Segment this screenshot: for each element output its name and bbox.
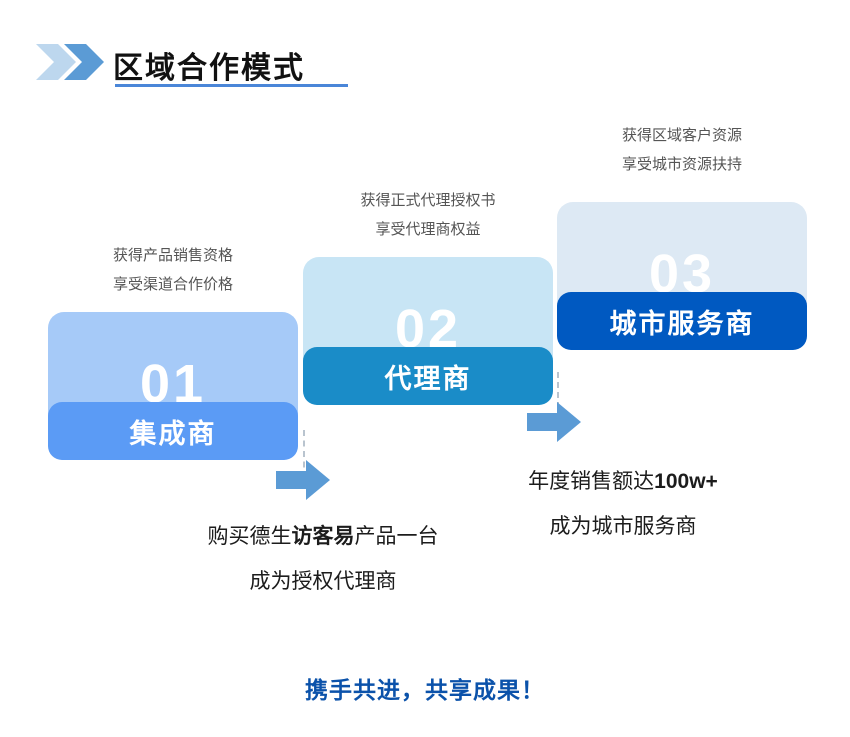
- footer-slogan: 携手共进，共享成果！: [0, 671, 850, 705]
- requirement-line-2: 成为城市服务商: [458, 504, 788, 549]
- requirement-product: 访客易: [292, 525, 355, 548]
- requirement-suffix: 产品一台: [355, 525, 439, 548]
- tier-benefit-line: 获得正式代理授权书: [303, 186, 553, 215]
- tier-role-bar: 代理商: [303, 347, 553, 405]
- double-chevron-right-icon: [36, 42, 108, 82]
- tier-benefit-line: 享受城市资源扶持: [557, 150, 807, 179]
- requirement-line-2: 成为授权代理商: [133, 559, 513, 604]
- tier-benefit-line: 享受渠道合作价格: [48, 270, 298, 299]
- tier-role-bar: 城市服务商: [557, 292, 807, 350]
- requirement-prefix: 购买德生: [208, 525, 292, 548]
- tier-card-02[interactable]: 02 代理商: [303, 257, 553, 405]
- page-title: 区域合作模式: [113, 43, 305, 87]
- title-underline: [115, 84, 348, 87]
- tier-card-01[interactable]: 01 集成商: [48, 312, 298, 460]
- tier-benefit-line: 获得产品销售资格: [48, 241, 298, 270]
- tier-card-03[interactable]: 03 城市服务商: [557, 202, 807, 350]
- requirement-prefix: 年度销售额达: [528, 470, 654, 493]
- tier-role-label: 代理商: [385, 357, 472, 396]
- tier-role-label: 城市服务商: [610, 302, 755, 341]
- tier-benefit-line: 获得区域客户资源: [557, 121, 807, 150]
- requirement-line-1: 购买德生访客易产品一台: [133, 514, 513, 559]
- tier-benefits-02: 获得正式代理授权书 享受代理商权益: [303, 186, 553, 244]
- tier-role-label: 集成商: [130, 412, 217, 451]
- tier-role-bar: 集成商: [48, 402, 298, 460]
- page-header: 区域合作模式: [0, 0, 850, 110]
- tier-benefits-01: 获得产品销售资格 享受渠道合作价格: [48, 241, 298, 299]
- tier-benefit-line: 享受代理商权益: [303, 215, 553, 244]
- tier-requirement-01: 购买德生访客易产品一台 成为授权代理商: [133, 514, 513, 604]
- right-block-arrow-icon: [276, 460, 330, 500]
- requirement-amount: 100w+: [654, 470, 718, 493]
- tier-requirement-02: 年度销售额达100w+ 成为城市服务商: [458, 459, 788, 549]
- requirement-line-1: 年度销售额达100w+: [458, 459, 788, 504]
- tier-benefits-03: 获得区域客户资源 享受城市资源扶持: [557, 121, 807, 179]
- right-block-arrow-icon: [527, 402, 581, 442]
